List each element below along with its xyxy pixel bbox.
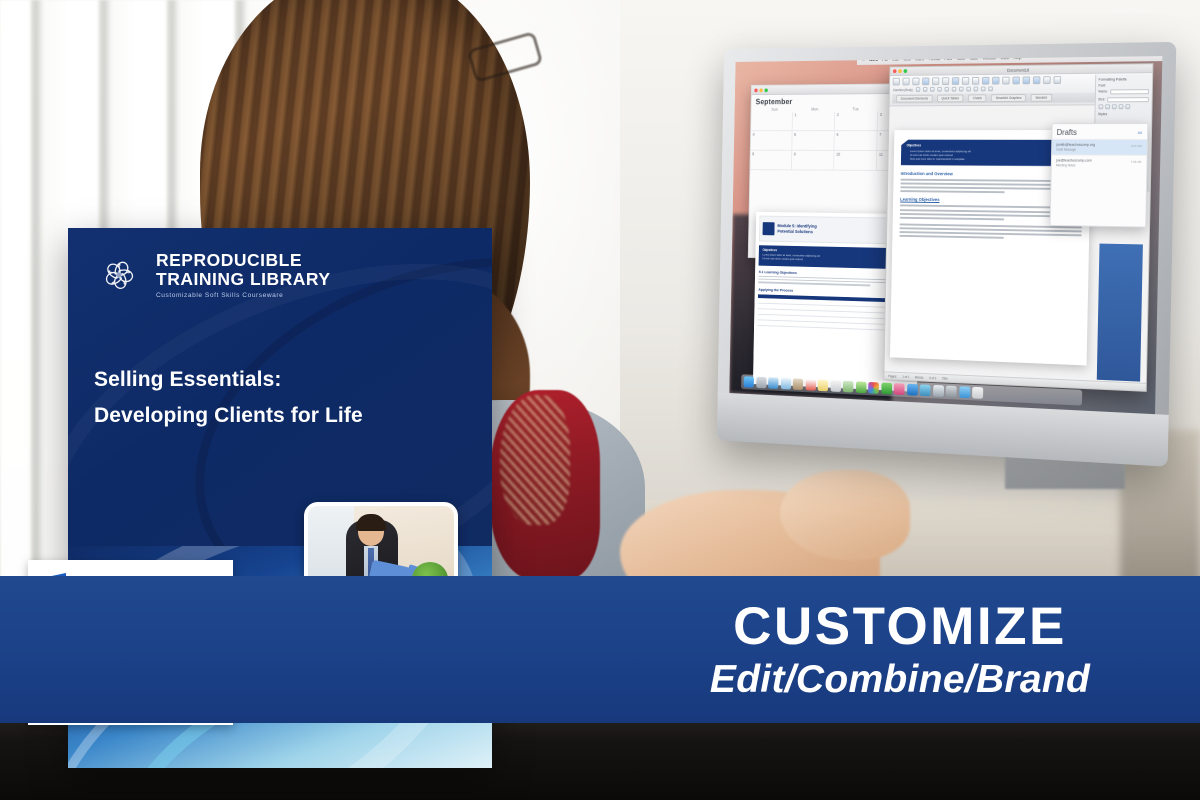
underline-icon[interactable] bbox=[930, 87, 935, 92]
copy-icon[interactable] bbox=[942, 77, 949, 85]
palette-italic-icon[interactable] bbox=[1105, 104, 1110, 109]
paste-icon[interactable] bbox=[952, 77, 959, 85]
mail-message-row[interactable]: jsmith@teachuscomp.org Draft Message 9:2… bbox=[1052, 139, 1147, 155]
toolbox-icon[interactable] bbox=[1033, 76, 1041, 84]
calendar-icon[interactable] bbox=[805, 379, 816, 391]
finder-icon[interactable] bbox=[744, 376, 754, 388]
course-title-line-1: Selling Essentials: bbox=[94, 368, 363, 392]
bold-icon[interactable] bbox=[915, 87, 920, 92]
status-pages-label: Pages: bbox=[888, 374, 897, 378]
brand-line-1: REPRODUCIBLE bbox=[156, 251, 331, 271]
zoom-icon[interactable] bbox=[1043, 76, 1051, 84]
palette-font-name-row[interactable]: Name: bbox=[1098, 89, 1148, 94]
status-words-label: Words: bbox=[915, 375, 924, 379]
open-icon[interactable] bbox=[903, 78, 910, 86]
deck-logo-icon bbox=[763, 222, 775, 235]
palette-bold-icon[interactable] bbox=[1098, 104, 1103, 109]
mail-filter-all[interactable]: All bbox=[1138, 130, 1142, 135]
status-pages-value: 1 of 1 bbox=[902, 375, 909, 379]
clock-icon[interactable] bbox=[933, 385, 944, 397]
redo-icon[interactable] bbox=[972, 77, 979, 85]
banner-headline: CUSTOMIZE bbox=[733, 600, 1067, 653]
palette-underline-icon[interactable] bbox=[1111, 104, 1116, 109]
palette-size-label: Size: bbox=[1098, 97, 1105, 102]
formatting-palette-title: Formatting Palette bbox=[1099, 77, 1149, 81]
brand-line-2: TRAINING LIBRARY bbox=[156, 270, 331, 290]
window-controls[interactable] bbox=[893, 69, 907, 73]
trash-icon[interactable] bbox=[972, 386, 983, 398]
airdrop-icon[interactable] bbox=[920, 384, 931, 396]
maximize-icon[interactable] bbox=[764, 88, 767, 92]
mail-subject: Draft Message bbox=[1056, 148, 1141, 152]
card-top-navy: REPRODUCIBLE TRAINING LIBRARY Customizab… bbox=[68, 228, 492, 546]
scarf-pattern bbox=[500, 395, 570, 525]
imac-computer: September Sun Mon Tue Wed 1 2 3 4 5 bbox=[717, 42, 1177, 467]
safari-icon[interactable] bbox=[768, 377, 778, 389]
calendar-day[interactable]: 6 bbox=[834, 131, 877, 151]
promo-banner-image: September Sun Mon Tue Wed 1 2 3 4 5 bbox=[0, 0, 1200, 800]
calendar-day[interactable]: 4 bbox=[751, 131, 793, 151]
contacts-icon[interactable] bbox=[793, 378, 803, 390]
background-blue-panel bbox=[1097, 243, 1143, 381]
word-document-title: Document18 bbox=[1007, 67, 1029, 72]
brand-logo: REPRODUCIBLE TRAINING LIBRARY Customizab… bbox=[94, 250, 331, 300]
calendar-day[interactable]: 2 bbox=[835, 111, 878, 131]
brand-wordmark: REPRODUCIBLE TRAINING LIBRARY Customizab… bbox=[156, 251, 331, 300]
font-name-value[interactable]: Cambria (Body) bbox=[893, 88, 913, 92]
palette-name-label: Name: bbox=[1098, 89, 1108, 94]
launchpad-icon[interactable] bbox=[756, 376, 766, 388]
appstore-icon[interactable] bbox=[907, 383, 918, 395]
indent-icon[interactable] bbox=[973, 87, 978, 92]
pinwheel-flower-logo-icon bbox=[94, 250, 144, 300]
palette-font-size-field[interactable] bbox=[1107, 97, 1148, 102]
align-center-icon[interactable] bbox=[944, 87, 949, 92]
course-title: Selling Essentials: Developing Clients f… bbox=[94, 368, 363, 428]
downloads-folder-icon[interactable] bbox=[959, 386, 970, 398]
palette-font-name-field[interactable] bbox=[1110, 89, 1149, 94]
break-icon[interactable] bbox=[1002, 77, 1010, 85]
cut-icon[interactable] bbox=[932, 78, 939, 86]
itunes-icon[interactable] bbox=[894, 383, 905, 395]
save-icon[interactable] bbox=[913, 78, 920, 86]
tab-smartart-graphics[interactable]: SmartArt Graphics bbox=[991, 94, 1026, 102]
notes-icon[interactable] bbox=[818, 379, 829, 391]
print-icon[interactable] bbox=[922, 78, 929, 86]
maps-icon[interactable] bbox=[843, 380, 854, 392]
calendar-day[interactable] bbox=[751, 112, 793, 132]
mail-sender: jsmith@teachuscomp.org bbox=[1056, 143, 1141, 147]
status-zoom-value[interactable]: 75% bbox=[942, 377, 948, 381]
italic-icon[interactable] bbox=[923, 87, 928, 92]
palette-style-buttons[interactable] bbox=[1098, 104, 1148, 109]
palette-font-size-row[interactable]: Size: bbox=[1098, 97, 1148, 102]
palette-font-color-icon[interactable] bbox=[1125, 104, 1130, 109]
highlight-icon[interactable] bbox=[981, 87, 986, 92]
calendar-day[interactable]: 8 bbox=[750, 151, 792, 171]
maximize-icon[interactable] bbox=[904, 69, 908, 73]
customize-banner: CUSTOMIZE Edit/Combine/Brand bbox=[0, 576, 1200, 723]
mail-time: 7:56 AM bbox=[1131, 160, 1142, 164]
messages-icon[interactable] bbox=[856, 381, 867, 393]
close-icon[interactable] bbox=[893, 69, 897, 73]
imac-display: September Sun Mon Tue Wed 1 2 3 4 5 bbox=[729, 56, 1162, 414]
deck-title-line2: Potential Solutions bbox=[777, 228, 813, 233]
status-words-value: 0 of 2 bbox=[929, 376, 936, 380]
preferences-icon[interactable] bbox=[946, 385, 957, 397]
font-color-icon[interactable] bbox=[988, 87, 993, 92]
mail-message-row[interactable]: joe@teachuscomp.com Meeting Notes 7:56 A… bbox=[1051, 155, 1146, 171]
mail-sender: joe@teachuscomp.com bbox=[1056, 159, 1141, 163]
numbering-icon[interactable] bbox=[966, 87, 971, 92]
mail-subject: Meeting Notes bbox=[1056, 164, 1141, 168]
photos-icon[interactable] bbox=[868, 382, 879, 394]
mail-header: Drafts All bbox=[1052, 124, 1147, 139]
brand-tagline: Customizable Soft Skills Courseware bbox=[156, 292, 331, 299]
banner-text-block: CUSTOMIZE Edit/Combine/Brand bbox=[600, 576, 1200, 723]
facetime-icon[interactable] bbox=[881, 382, 892, 394]
tab-charts[interactable]: Charts bbox=[968, 94, 986, 102]
mail-time: 9:21 AM bbox=[1131, 144, 1142, 148]
mail-icon[interactable] bbox=[781, 378, 791, 390]
bullets-icon[interactable] bbox=[959, 87, 964, 92]
tab-wordart[interactable]: WordArt bbox=[1031, 94, 1052, 102]
close-icon[interactable] bbox=[754, 88, 757, 92]
mail-drafts-pane[interactable]: Drafts All jsmith@teachuscomp.org Draft … bbox=[1049, 123, 1148, 228]
palette-section-font[interactable]: Font bbox=[1098, 83, 1148, 87]
gallery-icon[interactable] bbox=[1023, 77, 1031, 85]
businessman-hair bbox=[356, 514, 386, 531]
banner-subhead: Edit/Combine/Brand bbox=[710, 660, 1090, 699]
help-icon[interactable] bbox=[1054, 76, 1062, 84]
calendar-day[interactable]: 10 bbox=[834, 151, 877, 171]
calendar-day[interactable]: 5 bbox=[792, 131, 835, 151]
course-title-line-2: Developing Clients for Life bbox=[94, 404, 363, 428]
tab-quick-tables[interactable]: Quick Tables bbox=[937, 95, 964, 103]
right-hand bbox=[780, 470, 910, 560]
navigation-icon[interactable] bbox=[1013, 77, 1021, 85]
minimize-icon[interactable] bbox=[899, 69, 903, 73]
calendar-day[interactable]: 1 bbox=[792, 112, 835, 132]
palette-section-styles[interactable]: Styles bbox=[1098, 112, 1148, 116]
mail-folder-title: Drafts bbox=[1057, 128, 1077, 137]
align-left-icon[interactable] bbox=[937, 87, 942, 92]
tab-document-elements[interactable]: Document Elements bbox=[896, 95, 932, 103]
align-right-icon[interactable] bbox=[951, 87, 956, 92]
deck-title: Module 5: Identifying Potential Solution… bbox=[777, 223, 817, 234]
new-document-icon[interactable] bbox=[893, 78, 900, 86]
undo-icon[interactable] bbox=[962, 77, 969, 85]
tables-icon[interactable] bbox=[982, 77, 989, 85]
calendar-day[interactable]: 9 bbox=[792, 151, 835, 171]
microsoft-word-window[interactable]: Document18 bbox=[884, 63, 1153, 392]
minimize-icon[interactable] bbox=[759, 88, 762, 92]
reminders-icon[interactable] bbox=[830, 380, 841, 392]
palette-strikethrough-icon[interactable] bbox=[1118, 104, 1123, 109]
columns-icon[interactable] bbox=[992, 77, 1000, 85]
